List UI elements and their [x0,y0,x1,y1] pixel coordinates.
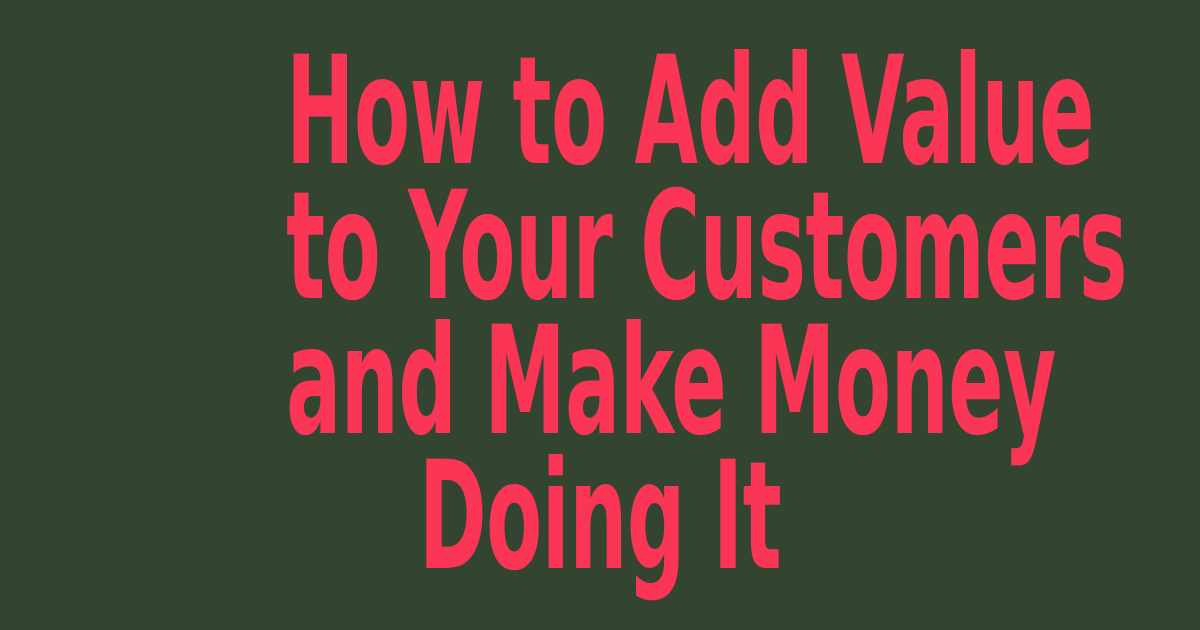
title-card: How to Add Value to Your Customers and M… [0,0,1200,630]
headline-line-4: Doing It [286,450,914,585]
page-title: How to Add Value to Your Customers and M… [273,45,927,585]
